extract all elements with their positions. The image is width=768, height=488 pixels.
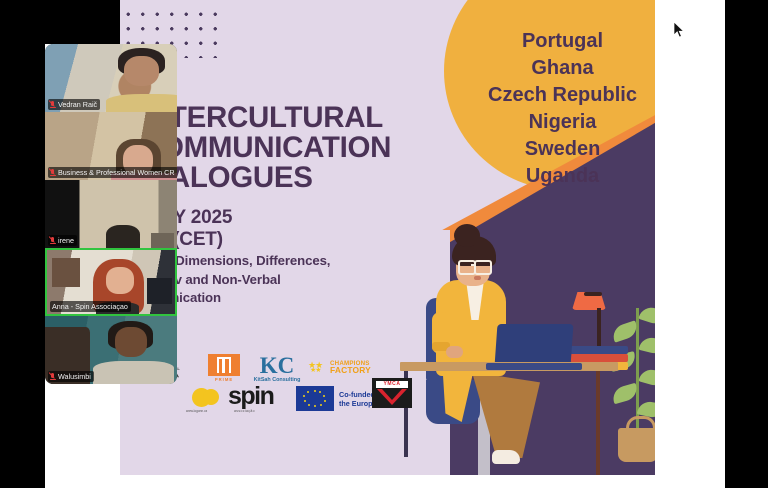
book-blue: [568, 346, 628, 354]
muted-microphone-icon: [50, 236, 56, 245]
plant-leaf: [638, 367, 655, 389]
top-left-letterbox: [45, 0, 120, 44]
eu-stars: [303, 390, 327, 407]
muted-microphone-icon: [50, 100, 56, 109]
participant-name: Anna - Spin Associaçao: [52, 302, 128, 311]
woman-shoe: [492, 450, 520, 464]
video-tile[interactable]: Vedran Raič: [45, 44, 177, 112]
desk-leg-right: [596, 371, 600, 475]
country-item: Sweden: [440, 136, 655, 163]
participant-name-badge: Business & Professional Women CR: [48, 167, 177, 178]
slide-title-line: COMMUNICATION: [140, 133, 470, 163]
youth-logo-caption: www.logonn.cz: [186, 408, 207, 414]
kitsah-logo-mark: KC: [246, 354, 308, 377]
country-item: Czech Republic: [440, 82, 655, 109]
video-tile[interactable]: Business & Professional Women CR: [45, 112, 177, 180]
background-picture-frame: [52, 258, 80, 287]
laptop-screen: [495, 324, 574, 366]
ymca-triangle-inner: [382, 389, 402, 400]
glasses-right-lens: [474, 260, 492, 275]
participant-name-badge: Walusimbi: [48, 371, 94, 382]
slide-datetime: JULY 2025 PM (CET): [140, 207, 440, 251]
participant-name: Business & Professional Women CR: [58, 168, 175, 177]
participant-name-badge: Anna - Spin Associaçao: [50, 301, 131, 312]
slide-title-line: INTERCULTURAL: [140, 103, 470, 133]
left-letterbox: [0, 0, 45, 488]
slide-subtitle-line: mmunication: [140, 289, 440, 308]
mouse-pointer-icon: [674, 22, 685, 38]
presentation-slide: Portugal Ghana Czech Republic Nigeria Sw…: [120, 0, 655, 475]
slide-date: JULY 2025: [140, 207, 440, 229]
slide-title-line: DIALOGUES: [140, 163, 470, 193]
participant-face: [106, 267, 134, 294]
prime-logo-mark: [208, 354, 240, 376]
slide-subtitle-line: entityv and Non-Verbal: [140, 271, 440, 290]
champions-factory-logo: ★★ ★★ CHAMPIONS FACTORY: [308, 360, 380, 380]
spin-logo-wordmark: spin: [228, 384, 294, 408]
plant-leaf: [639, 335, 655, 356]
woman-mouth: [474, 276, 481, 280]
background-object: [106, 225, 140, 248]
star-icon: ★★: [310, 367, 321, 374]
country-item: Portugal: [440, 28, 655, 55]
ymca-wordmark: YMCA: [376, 381, 408, 388]
basket: [618, 428, 655, 462]
sponsor-logo-strip: SKILL ᗅ www.logonn.cz PRIME KC KitSah Co…: [160, 352, 420, 414]
champions-factory-line2: FACTORY: [330, 367, 371, 373]
background-monitor: [147, 278, 173, 304]
spin-logo: spin associação: [228, 384, 294, 410]
desk-lamp-arm: [584, 292, 602, 296]
right-letterbox: [725, 0, 768, 488]
participant-name-badge: irene: [48, 235, 77, 246]
glasses-bridge: [471, 264, 476, 266]
laptop-base: [486, 363, 582, 370]
eu-flag-icon: [296, 386, 334, 411]
country-list: Portugal Ghana Czech Republic Nigeria Sw…: [440, 28, 655, 190]
slide-subtitle-line: ltural Dimensions, Differences,: [140, 252, 440, 271]
country-item: Nigeria: [440, 109, 655, 136]
participant-name-badge: Vedran Raič: [48, 99, 100, 110]
participant-name: Vedran Raič: [58, 100, 97, 109]
background-object: [151, 233, 175, 248]
woman-working-at-desk-illustration: [400, 220, 655, 475]
slide-time: PM (CET): [140, 229, 440, 251]
participant-face: [124, 56, 158, 86]
participant-shirt: [106, 94, 177, 112]
slide-subtitle: ltural Dimensions, Differences, entityv …: [140, 252, 440, 308]
participant-face: [115, 327, 147, 357]
video-tile-active-speaker[interactable]: Anna - Spin Associaçao: [45, 248, 177, 316]
country-item: Ghana: [440, 55, 655, 82]
video-tile[interactable]: Walusimbi: [45, 316, 177, 384]
plant-leaf: [638, 304, 655, 326]
muted-microphone-icon: [50, 168, 56, 177]
youth-logo: www.logonn.cz: [186, 386, 226, 412]
youth-logo-circle: [203, 389, 219, 405]
video-tile[interactable]: irene: [45, 180, 177, 248]
participant-shirt: [93, 361, 175, 384]
ymca-logo: YMCA: [372, 378, 412, 408]
participant-name: Walusimbi: [58, 372, 91, 381]
book-red: [570, 354, 628, 362]
muted-microphone-icon: [50, 372, 56, 381]
ymca-wordmark-bar: YMCA: [376, 381, 408, 388]
screen: Portugal Ghana Czech Republic Nigeria Sw…: [0, 0, 768, 488]
slide-title: INTERCULTURAL COMMUNICATION DIALOGUES: [140, 103, 470, 193]
participant-name: irene: [58, 236, 74, 245]
country-item: Uganda: [440, 163, 655, 190]
woman-legs: [472, 372, 540, 458]
hair-bun: [454, 224, 480, 247]
woman-hand: [446, 346, 463, 358]
participant-filmstrip[interactable]: Vedran Raič Business & Professional Wome…: [45, 44, 177, 402]
